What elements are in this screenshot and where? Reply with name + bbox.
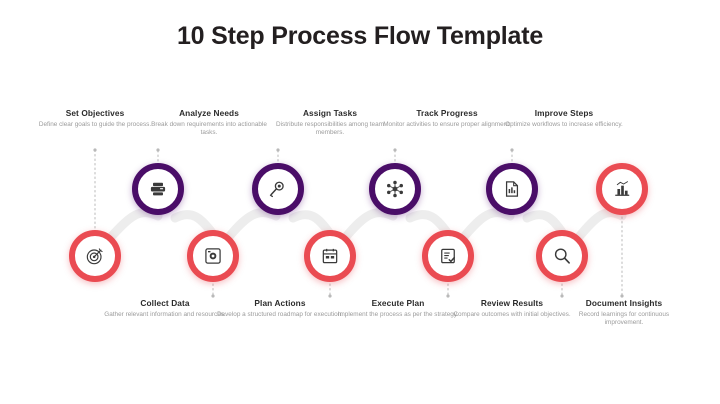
ribbon-3-4 (228, 213, 276, 238)
step-label-track-progress: Track Progress Monitor activities to ens… (383, 108, 511, 129)
step-description: Break down requirements into actionable … (145, 121, 273, 137)
step-node-document-insights[interactable] (596, 163, 648, 215)
step-description: Develop a structured roadmap for executi… (216, 311, 344, 319)
step-description: Implement the process as per the strateg… (334, 311, 462, 319)
step-node-analyze-needs[interactable] (132, 163, 184, 215)
database-icon (203, 246, 223, 266)
step-node-set-objectives[interactable] (69, 230, 121, 282)
step-label-improve-steps: Improve Steps Optimize workflows to incr… (500, 108, 628, 129)
step-title: Document Insights (560, 298, 688, 309)
step-title: Execute Plan (334, 298, 462, 309)
step-description: Compare outcomes with initial objectives… (448, 311, 576, 319)
leader-dot-9 (510, 148, 513, 151)
bar-chart-icon (612, 179, 632, 199)
step-node-plan-actions[interactable] (304, 230, 356, 282)
clipboard-check-icon (438, 246, 458, 266)
target-icon (85, 246, 105, 266)
step-title: Improve Steps (500, 108, 628, 119)
step-description: Define clear goals to guide the process. (31, 121, 159, 129)
step-title: Review Results (448, 298, 576, 309)
step-node-execute-plan[interactable] (422, 230, 474, 282)
step-node-review-results[interactable] (536, 230, 588, 282)
ribbon-7-8 (463, 213, 510, 238)
leader-dot-5 (276, 148, 279, 151)
network-nodes-icon (385, 179, 405, 199)
layers-icon (148, 179, 168, 199)
step-node-track-progress[interactable] (369, 163, 421, 215)
step-label-review-results: Review Results Compare outcomes with ini… (448, 298, 576, 319)
leader-dot-1 (93, 148, 96, 151)
step-title: Assign Tasks (266, 108, 394, 119)
step-title: Track Progress (383, 108, 511, 119)
step-label-document-insights: Document Insights Record learnings for c… (560, 298, 688, 327)
step-label-execute-plan: Execute Plan Implement the process as pe… (334, 298, 462, 319)
step-title: Collect Data (101, 298, 229, 309)
step-description: Optimize workflows to increase efficienc… (500, 121, 628, 129)
step-label-plan-actions: Plan Actions Develop a structured roadma… (216, 298, 344, 319)
magnifier-search-icon (268, 179, 288, 199)
step-label-collect-data: Collect Data Gather relevant information… (101, 298, 229, 319)
document-report-icon (502, 179, 522, 199)
step-node-collect-data[interactable] (187, 230, 239, 282)
step-title: Set Objectives (31, 108, 159, 119)
ribbon-1-2 (110, 213, 158, 238)
step-node-improve-steps[interactable] (486, 163, 538, 215)
calendar-plan-icon (320, 246, 340, 266)
magnifier-icon (552, 246, 572, 266)
step-node-assign-tasks[interactable] (252, 163, 304, 215)
step-title: Plan Actions (216, 298, 344, 309)
slide-canvas: 10 Step Process Flow Template (0, 0, 720, 404)
step-description: Record learnings for continuous improvem… (560, 311, 688, 327)
leader-dot-7 (393, 148, 396, 151)
leader-dot-3 (156, 148, 159, 151)
ribbon-5-6 (345, 213, 393, 238)
flow-ribbons (110, 213, 622, 238)
ribbon-9-10 (578, 213, 622, 238)
step-description: Gather relevant information and resource… (101, 311, 229, 319)
step-label-analyze-needs: Analyze Needs Break down requirements in… (145, 108, 273, 137)
step-label-set-objectives: Set Objectives Define clear goals to gui… (31, 108, 159, 129)
step-description: Distribute responsibilities among team m… (266, 121, 394, 137)
step-title: Analyze Needs (145, 108, 273, 119)
step-description: Monitor activities to ensure proper alig… (383, 121, 511, 129)
step-label-assign-tasks: Assign Tasks Distribute responsibilities… (266, 108, 394, 137)
